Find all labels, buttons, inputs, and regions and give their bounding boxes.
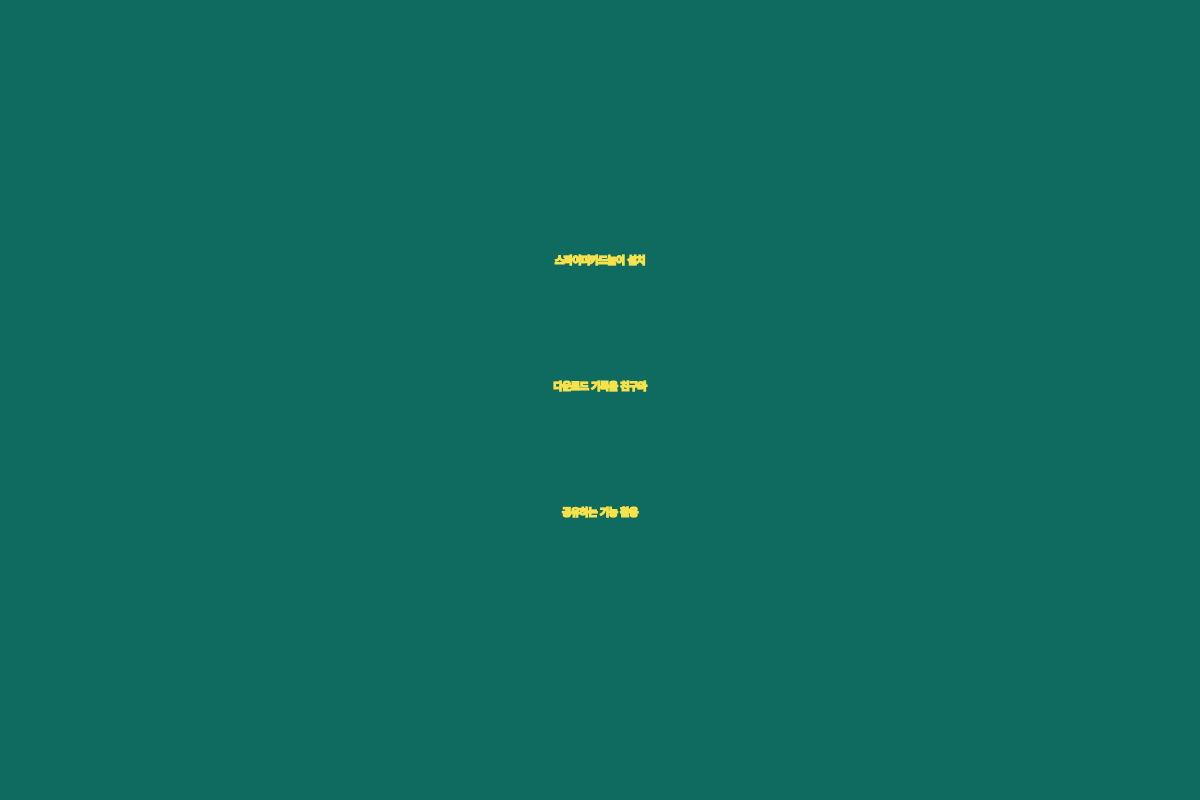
headline-block: 스파이더카드놀이 설치 다운로드 기록을 친구와 공유하는 기능 활용 [0, 199, 1200, 577]
headline-line-3: 공유하는 기능 활용 [24, 451, 1176, 577]
headline-line-2: 다운로드 기록을 친구와 [24, 325, 1176, 451]
headline-line-1: 스파이더카드놀이 설치 [24, 199, 1176, 325]
poster-canvas: 스파이더카드놀이 설치 다운로드 기록을 친구와 공유하는 기능 활용 [0, 0, 1200, 800]
